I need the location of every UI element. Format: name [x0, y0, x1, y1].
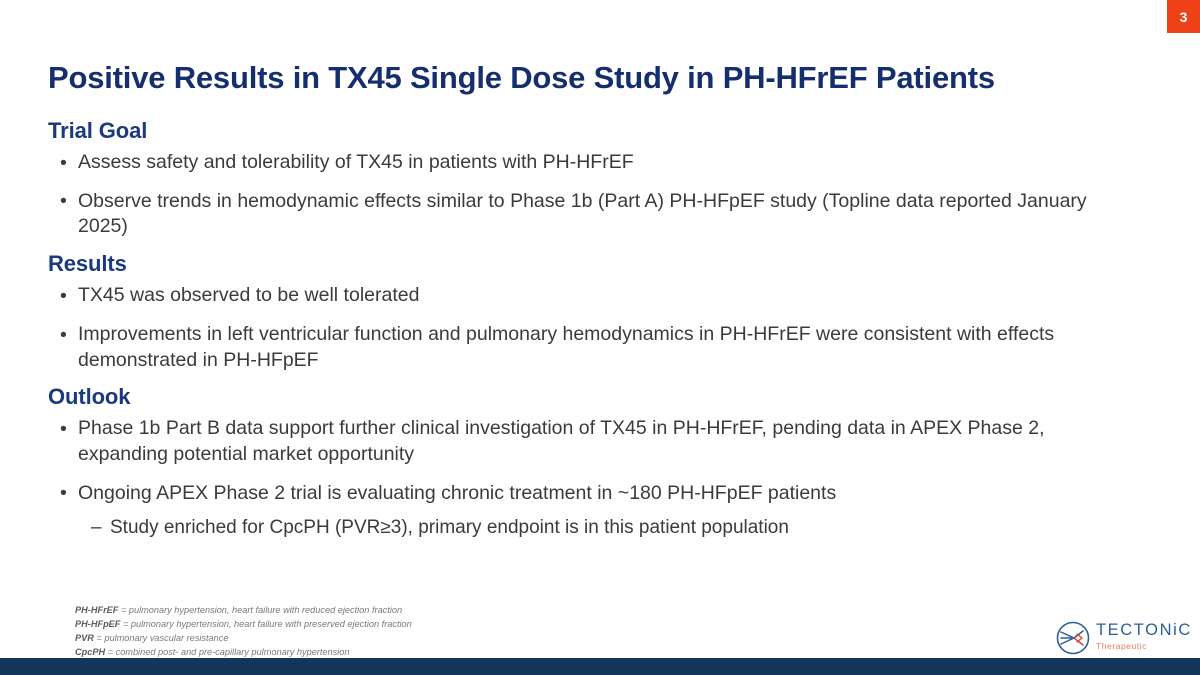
- section-outlook: Outlook • Phase 1b Part B data support f…: [48, 384, 1138, 539]
- logo-wordmark: TECTONiC Therapeutic: [1096, 622, 1192, 650]
- section-heading: Results: [48, 251, 1138, 277]
- bullet-dot-icon: •: [60, 323, 67, 349]
- bullet-text: Ongoing APEX Phase 2 trial is evaluating…: [78, 482, 836, 504]
- section-trial-goal: Trial Goal • Assess safety and tolerabil…: [48, 118, 1138, 240]
- list-item: • Ongoing APEX Phase 2 trial is evaluati…: [48, 481, 1138, 540]
- page-number-badge: 3: [1167, 0, 1200, 33]
- footnote-term: CpcPH: [75, 647, 105, 657]
- list-item: • Observe trends in hemodynamic effects …: [48, 189, 1138, 240]
- bullet-list: • Phase 1b Part B data support further c…: [48, 416, 1138, 539]
- list-item: • TX45 was observed to be well tolerated: [48, 283, 1138, 309]
- slide: 3 Positive Results in TX45 Single Dose S…: [0, 0, 1200, 675]
- bullet-text: Observe trends in hemodynamic effects si…: [78, 190, 1087, 238]
- section-heading: Trial Goal: [48, 118, 1138, 144]
- bullet-list: • TX45 was observed to be well tolerated…: [48, 283, 1138, 373]
- logo-company-name: TECTONiC: [1096, 622, 1192, 639]
- footnote-row: PH-HFrEF = pulmonary hypertension, heart…: [75, 604, 412, 618]
- list-item: • Assess safety and tolerability of TX45…: [48, 150, 1138, 176]
- footnote-term: PH-HFpEF: [75, 619, 120, 629]
- bullet-list: • Assess safety and tolerability of TX45…: [48, 150, 1138, 240]
- tectonic-antibody-mark-icon: [1055, 620, 1091, 661]
- footnote-definition: = combined post- and pre-capillary pulmo…: [105, 647, 349, 657]
- footnote-definition: = pulmonary hypertension, heart failure …: [120, 619, 411, 629]
- sub-bullet-dash-icon: –: [91, 515, 102, 540]
- sub-list-item: – Study enriched for CpcPH (PVR≥3), prim…: [78, 515, 1138, 540]
- bullet-text: Assess safety and tolerability of TX45 i…: [78, 151, 634, 173]
- footnotes: PH-HFrEF = pulmonary hypertension, heart…: [75, 604, 412, 660]
- bullet-dot-icon: •: [60, 284, 67, 310]
- page-title: Positive Results in TX45 Single Dose Stu…: [48, 60, 995, 96]
- footer-bar: [0, 658, 1200, 675]
- list-item: • Phase 1b Part B data support further c…: [48, 416, 1138, 467]
- footnote-row: PVR = pulmonary vascular resistance: [75, 632, 412, 646]
- bullet-text: TX45 was observed to be well tolerated: [78, 284, 419, 306]
- logo-tagline: Therapeutic: [1096, 642, 1192, 651]
- company-logo: TECTONiC Therapeutic: [1055, 618, 1185, 658]
- sub-bullet-list: – Study enriched for CpcPH (PVR≥3), prim…: [78, 515, 1138, 540]
- bullet-dot-icon: •: [60, 481, 67, 507]
- bullet-dot-icon: •: [60, 417, 67, 443]
- footnote-term: PH-HFrEF: [75, 605, 118, 615]
- list-item: • Improvements in left ventricular funct…: [48, 322, 1138, 373]
- footnote-definition: = pulmonary vascular resistance: [94, 633, 229, 643]
- bullet-dot-icon: •: [60, 151, 67, 177]
- footnote-term: PVR: [75, 633, 94, 643]
- bullet-text: Improvements in left ventricular functio…: [78, 323, 1054, 371]
- bullet-dot-icon: •: [60, 189, 67, 215]
- footnote-row: PH-HFpEF = pulmonary hypertension, heart…: [75, 618, 412, 632]
- sub-bullet-text: Study enriched for CpcPH (PVR≥3), primar…: [110, 517, 789, 538]
- section-results: Results • TX45 was observed to be well t…: [48, 251, 1138, 373]
- section-heading: Outlook: [48, 384, 1138, 410]
- bullet-text: Phase 1b Part B data support further cli…: [78, 417, 1045, 465]
- footnote-definition: = pulmonary hypertension, heart failure …: [118, 605, 402, 615]
- slide-body: Trial Goal • Assess safety and tolerabil…: [48, 118, 1138, 540]
